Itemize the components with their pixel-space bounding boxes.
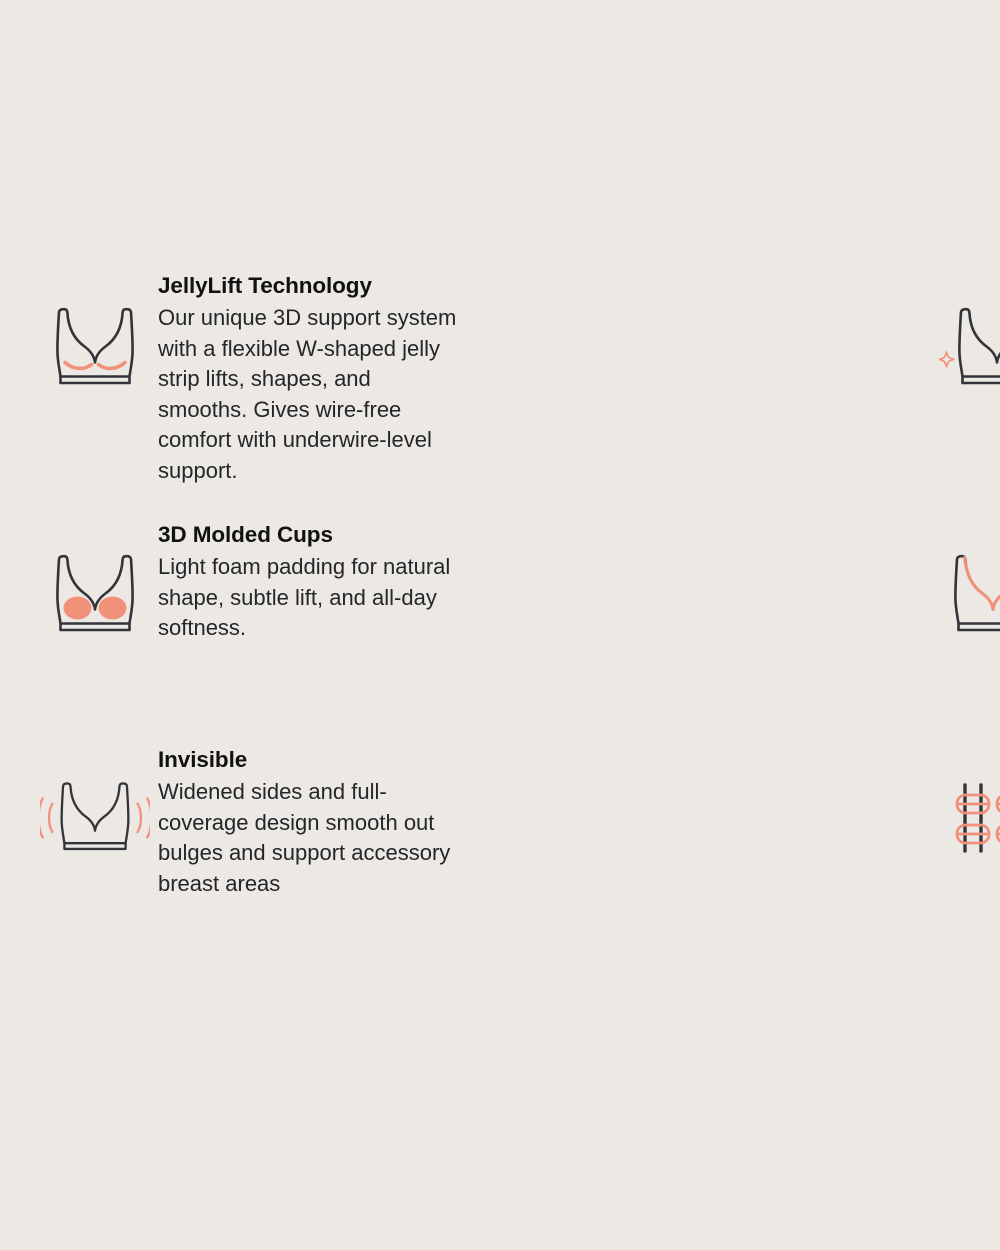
feature-title: 3D Molded Cups [158, 521, 460, 549]
bra-v-neckline-icon [938, 521, 1000, 635]
feature-copy: 3D Molded Cups Light foam padding for na… [150, 521, 460, 644]
bra-soundwave-icon [40, 746, 150, 858]
feature-description: Widened sides and full-coverage design s… [158, 777, 458, 899]
feature-copy: Invisible Widened sides and full-coverag… [150, 746, 458, 899]
feature-card-invisible: Invisible Widened sides and full-coverag… [0, 746, 460, 936]
features-grid: JellyLift Technology Our unique 3D suppo… [0, 272, 1000, 936]
feature-description: Our unique 3D support system with a flex… [158, 303, 460, 486]
bra-molded-cups-icon [40, 521, 150, 635]
feature-copy: JellyLift Technology Our unique 3D suppo… [150, 272, 460, 486]
bra-jelly-strip-icon [40, 272, 150, 388]
feature-card-seamless-breathable: Seamless & Breathable A smooth, invisibl… [460, 272, 938, 521]
strap-sliders-icon [938, 746, 1000, 858]
feature-title: JellyLift Technology [158, 272, 460, 300]
feature-card-v-neckline: V-Neckline Deep V plunge neckline enhanc… [460, 521, 938, 746]
feature-title: Invisible [158, 746, 458, 774]
feature-row: JellyLift Technology Our unique 3D suppo… [0, 272, 1000, 521]
feature-card-jellylift-technology: JellyLift Technology Our unique 3D suppo… [0, 272, 460, 521]
feature-card-adjustable-straps: Adjustable Straps Adjustable, non-slip s… [460, 746, 938, 936]
feature-row: Invisible Widened sides and full-coverag… [0, 746, 1000, 936]
bra-sparkles-icon [938, 272, 1000, 388]
feature-card-3d-molded-cups: 3D Molded Cups Light foam padding for na… [0, 521, 460, 746]
feature-description: Light foam padding for natural shape, su… [158, 552, 460, 644]
feature-grid-page: JellyLift Technology Our unique 3D suppo… [0, 0, 1000, 1250]
feature-row: 3D Molded Cups Light foam padding for na… [0, 521, 1000, 746]
